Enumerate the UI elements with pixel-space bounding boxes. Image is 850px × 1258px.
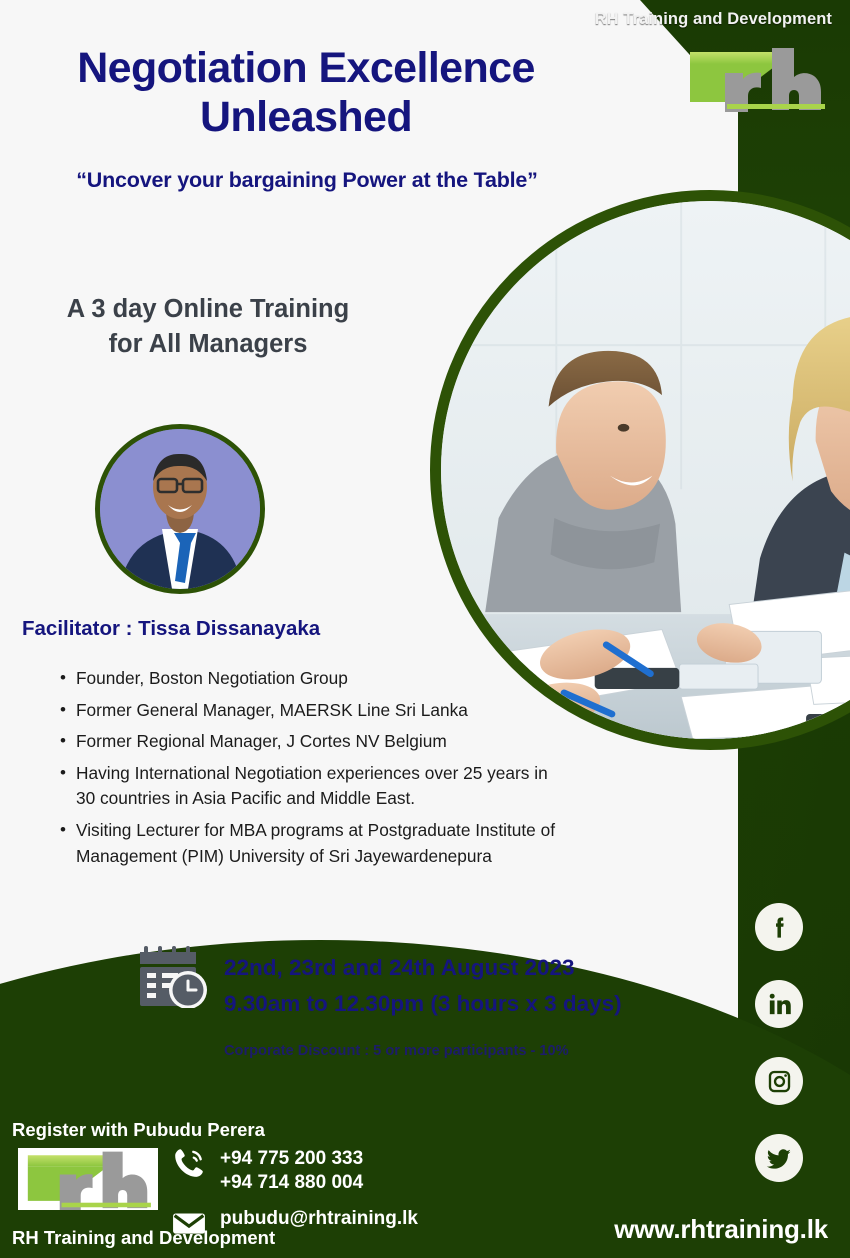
list-item: Having International Negotiation experie… (58, 761, 563, 812)
phone-1: +94 775 200 333 (220, 1147, 363, 1171)
facilitator-name: Facilitator : Tissa Dissanayaka (22, 617, 320, 641)
linkedin-button[interactable] (755, 980, 803, 1028)
schedule-time: 9.30am to 12.30pm (3 hours x 3 days) (224, 986, 622, 1022)
schedule-text: 22nd, 23rd and 24th August 2023 9.30am t… (224, 950, 622, 1023)
poster-root: RH Training and Development Negotiation … (0, 0, 850, 1258)
footer-brand: RH Training and Development (12, 1227, 275, 1249)
facilitator-credentials: Founder, Boston Negotiation Group Former… (18, 666, 563, 875)
header-brand: RH Training and Development (595, 10, 832, 29)
contact-phone-row[interactable]: +94 775 200 333 +94 714 880 004 (172, 1146, 418, 1196)
corporate-discount: Corporate Discount : 5 or more participa… (224, 1043, 569, 1059)
course-line-1: A 3 day Online Training (28, 292, 388, 327)
list-item: Visiting Lecturer for MBA programs at Po… (58, 818, 563, 869)
contact-block: +94 775 200 333 +94 714 880 004 pubudu@r… (172, 1146, 418, 1240)
rh-logo-icon (682, 44, 830, 112)
list-item: Former General Manager, MAERSK Line Sri … (58, 698, 563, 724)
schedule-dates: 22nd, 23rd and 24th August 2023 (224, 950, 622, 986)
social-links (755, 903, 803, 1182)
facebook-icon (766, 914, 793, 941)
phone-icon (172, 1146, 206, 1180)
website-url: www.rhtraining.lk (614, 1214, 828, 1245)
register-title: Register with Pubudu Perera (12, 1119, 265, 1141)
instagram-button[interactable] (755, 1057, 803, 1105)
list-item: Former Regional Manager, J Cortes NV Bel… (58, 729, 563, 755)
twitter-icon (766, 1145, 793, 1172)
instagram-icon (766, 1068, 793, 1095)
phone-2: +94 714 880 004 (220, 1171, 363, 1195)
phone-numbers: +94 775 200 333 +94 714 880 004 (220, 1146, 363, 1196)
facebook-button[interactable] (755, 903, 803, 951)
course-summary: A 3 day Online Training for All Managers (28, 292, 388, 362)
business-meeting-illustration (441, 201, 850, 739)
linkedin-icon (766, 991, 793, 1018)
twitter-button[interactable] (755, 1134, 803, 1182)
facilitator-portrait (95, 424, 265, 594)
rh-logo-icon (18, 1148, 158, 1210)
course-line-2: for All Managers (28, 327, 388, 362)
list-item: Founder, Boston Negotiation Group (58, 666, 563, 692)
facilitator-avatar-illustration (100, 429, 260, 589)
calendar-clock-icon (140, 944, 210, 1008)
footer-logo-box (18, 1148, 158, 1210)
tagline: “Uncover your bargaining Power at the Ta… (0, 168, 614, 193)
page-title: Negotiation Excellence Unleashed (0, 44, 612, 142)
